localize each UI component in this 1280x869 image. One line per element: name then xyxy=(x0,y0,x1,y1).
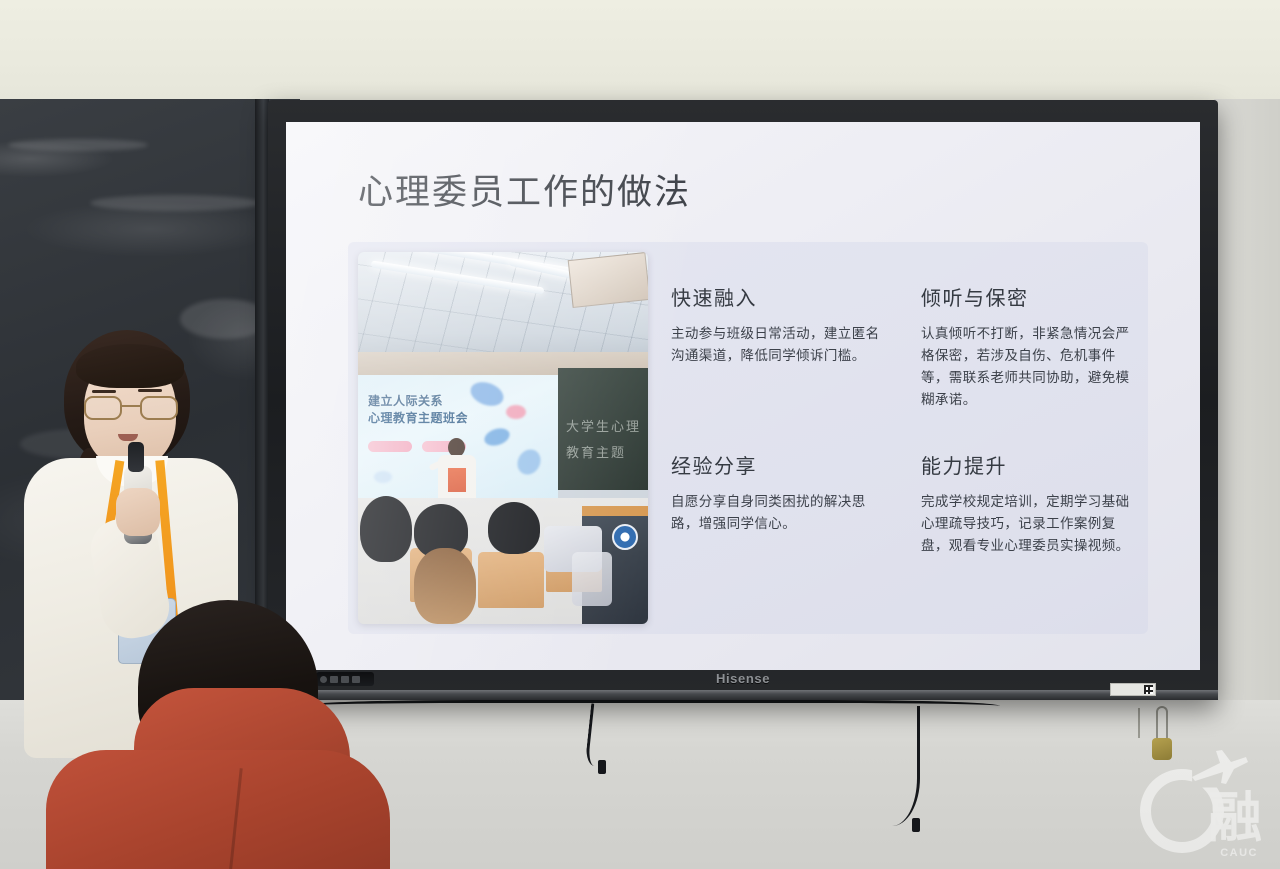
slide-block-1-heading: 倾听与保密 xyxy=(921,282,1143,311)
glasses-icon xyxy=(84,396,178,420)
slide-block-1-body: 认真倾听不打断，非紧急情况会严格保密，若涉及自伤、危机事件等，需联系老师共同协助… xyxy=(921,323,1143,411)
padlock xyxy=(1150,706,1172,766)
classroom-activity-photo: 建立人际关系 心理教育主题班会 大学生心理 教育主题 xyxy=(358,252,648,624)
panel-bottom-rail xyxy=(268,690,1218,700)
display-brand-label: Hisense xyxy=(716,671,770,686)
slide-text-columns: 快速融入 主动参与班级日常活动，建立匿名沟通渠道，降低同学倾诉门槛。 倾听与保密… xyxy=(671,282,1143,622)
slide-block-2-body: 自愿分享自身同类困扰的解决思路，增强同学信心。 xyxy=(671,491,893,535)
classroom-scene: 心理委员工作的做法 建立人际关系 心理教育主题班会 xyxy=(0,0,1280,869)
slide-block-0-body: 主动参与班级日常活动，建立匿名沟通渠道，降低同学倾诉门槛。 xyxy=(671,323,893,367)
school-emblem-icon xyxy=(612,524,638,550)
photo-blackboard-text-line1: 大学生心理 xyxy=(566,416,641,435)
cable-connector-left xyxy=(598,760,606,774)
panel-spec-label xyxy=(1110,683,1156,696)
photo-projected-title-line2: 心理教育主题班会 xyxy=(368,410,518,427)
slide-block-3: 能力提升 完成学校规定培训，定期学习基础心理疏导技巧，记录工作案例复盘，观看专业… xyxy=(921,450,1143,557)
slide-block-3-body: 完成学校规定培训，定期学习基础心理疏导技巧，记录工作案例复盘，观看专业心理委员实… xyxy=(921,491,1143,557)
photo-blackboard-text-line2: 教育主题 xyxy=(566,442,626,461)
wall-upper xyxy=(0,0,1280,100)
slide-title: 心理委员工作的做法 xyxy=(358,164,691,215)
cable-connector-right xyxy=(912,818,920,832)
audience-member xyxy=(38,600,388,869)
slide-block-3-heading: 能力提升 xyxy=(921,450,1143,479)
photo-projected-title-line1: 建立人际关系 xyxy=(368,393,518,410)
wall-right xyxy=(1214,99,1280,709)
presentation-slide: 心理委员工作的做法 建立人际关系 心理教育主题班会 xyxy=(286,122,1200,670)
qr-code-icon xyxy=(1144,685,1153,694)
microphone-head-icon xyxy=(128,442,144,472)
slide-block-0: 快速融入 主动参与班级日常活动，建立匿名沟通渠道，降低同学倾诉门槛。 xyxy=(671,282,893,367)
slide-block-1: 倾听与保密 认真倾听不打断，非紧急情况会严格保密，若涉及自伤、危机事件等，需联系… xyxy=(921,282,1143,411)
slide-block-0-heading: 快速融入 xyxy=(671,282,893,311)
interactive-display[interactable]: 心理委员工作的做法 建立人际关系 心理教育主题班会 xyxy=(268,100,1218,700)
photo-blackboard: 大学生心理 教育主题 xyxy=(558,368,648,490)
slide-block-2-heading: 经验分享 xyxy=(671,450,893,479)
slide-block-2: 经验分享 自愿分享自身同类困扰的解决思路，增强同学信心。 xyxy=(671,450,893,535)
